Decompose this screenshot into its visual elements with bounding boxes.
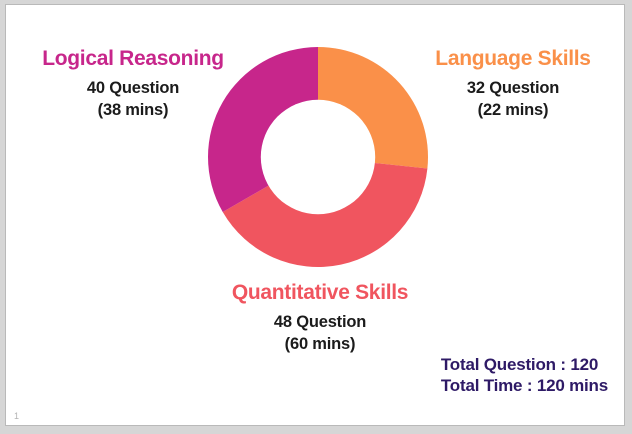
segment-questions-language-skills: 32 Question (398, 79, 625, 98)
label-block-quantitative-skills: Quantitative Skills 48 Question (60 mins… (196, 281, 444, 355)
segment-time-quantitative-skills: (60 mins) (196, 335, 444, 354)
segment-title-logical-reasoning: Logical Reasoning (18, 47, 248, 72)
segment-time-language-skills: (22 mins) (398, 101, 625, 120)
segment-time-logical-reasoning: (38 mins) (18, 101, 248, 120)
segment-questions-quantitative-skills: 48 Question (196, 313, 444, 332)
slide-canvas: Logical Reasoning 40 Question (38 mins) … (5, 4, 625, 426)
segment-title-quantitative-skills: Quantitative Skills (196, 281, 444, 306)
totals-block: Total Question : 120 Total Time : 120 mi… (441, 354, 608, 398)
total-time-text: Total Time : 120 mins (441, 375, 608, 397)
total-questions-text: Total Question : 120 (441, 354, 608, 376)
segment-title-language-skills: Language Skills (398, 47, 625, 72)
label-block-logical-reasoning: Logical Reasoning 40 Question (38 mins) (18, 47, 248, 121)
label-block-language-skills: Language Skills 32 Question (22 mins) (398, 47, 625, 121)
donut-center-hole (261, 100, 375, 214)
segment-questions-logical-reasoning: 40 Question (18, 79, 248, 98)
page-number: 1 (14, 411, 19, 421)
